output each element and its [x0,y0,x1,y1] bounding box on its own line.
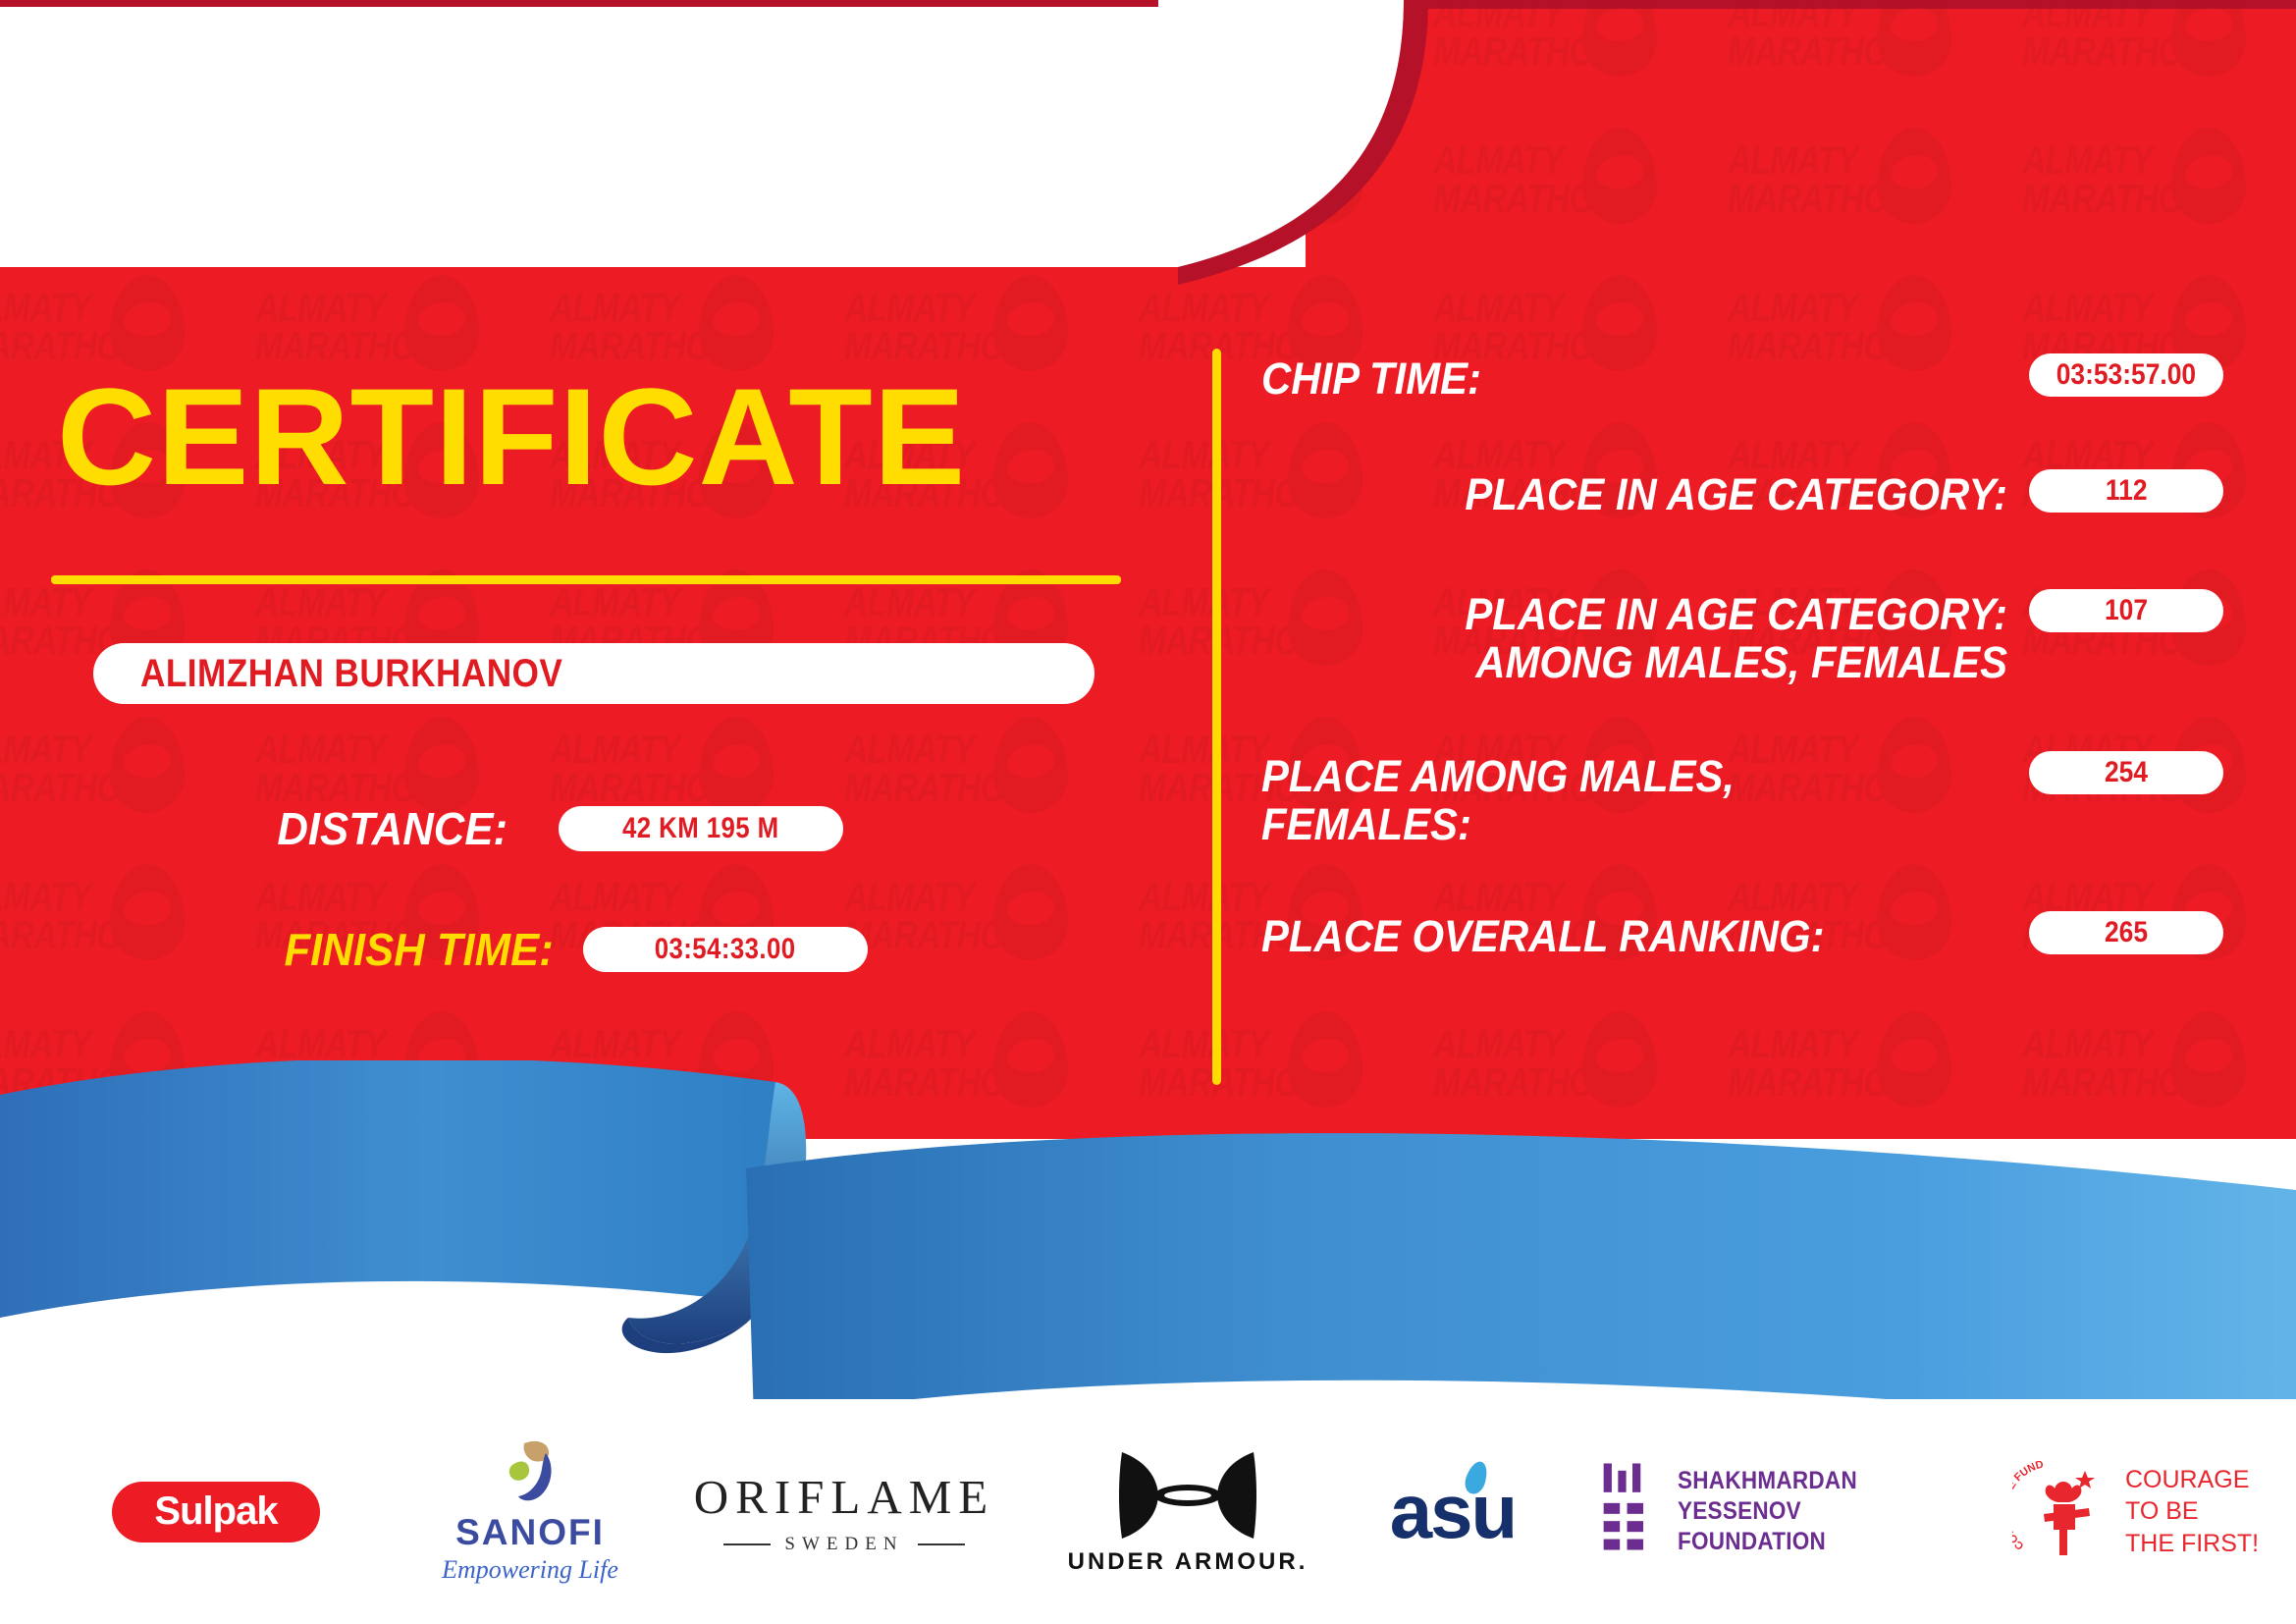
watermark-drop-icon [1582,0,1657,77]
stat-value: 112 [2106,474,2148,508]
watermark-drop-icon [1582,128,1657,224]
stat-row: PLACE AMONG MALES, FEMALES:254 [1261,751,2223,848]
oriflame-sweden: SWEDEN [784,1534,903,1555]
oriflame-rule-left [723,1543,771,1545]
oriflame-sub: SWEDEN [723,1534,964,1555]
watermark-tile: ALMATY MARATHON [2022,0,2296,118]
stat-label: PLACE OVERALL RANKING: [1261,911,1955,961]
stat-row: PLACE OVERALL RANKING:265 [1261,911,2223,961]
watermark-text: ALMATY MARATHON [2022,141,2206,218]
stat-value: 254 [2105,756,2148,789]
stat-row: PLACE IN AGE CATEGORY:112 [1261,469,2223,519]
courage-child-icon: CORPORATE FUND [2012,1453,2115,1571]
stat-row: PLACE IN AGE CATEGORY: AMONG MALES, FEMA… [1261,589,2223,686]
distance-value: 42 KM 195 M [622,812,779,845]
stat-value-pill: 254 [2029,751,2223,794]
sponsor-sanofi: SANOFI Empowering Life [393,1399,667,1624]
asu-label: asu [1390,1468,1516,1554]
stat-value-pill: 112 [2029,469,2223,513]
yessenov-mark-icon [1600,1457,1656,1567]
distance-value-pill: 42 KM 195 M [559,806,843,851]
stat-value: 265 [2105,916,2148,949]
sponsor-bar: Sulpak SANOFI Empowering Life ORIFLAME S… [0,1399,2296,1624]
stat-value-pill: 107 [2029,589,2223,632]
certificate-page: ALMATY MARATHONALMATY MARATHONALMATY MAR… [0,0,2296,1624]
athlete-name-value: ALIMZHAN BURKHANOV [140,652,562,696]
header-banner [0,7,1306,267]
sponsor-yessenov: SHAKHMARDAN YESSENOV FOUNDATION [1600,1399,1993,1624]
sanofi-tagline: Empowering Life [442,1555,618,1585]
finish-time-label: FINISH TIME: [284,923,553,976]
stat-value: 03:53:57.00 [2056,358,2196,392]
under-armour-icon [1114,1448,1261,1543]
asu-wordmark: asu [1390,1467,1516,1556]
sanofi-mark-icon [495,1439,565,1504]
watermark-drop-icon [2171,128,2246,224]
stat-value-pill: 265 [2029,911,2223,954]
courage-wordmark: COURAGE TO BE THE FIRST! [2125,1464,2259,1560]
distance-row: DISTANCE: 42 KM 195 M [265,802,843,855]
stat-label: CHIP TIME: [1261,353,1955,404]
watermark-tile: ALMATY MARATHON [2022,118,2296,265]
page-title: CERTIFICATE [57,368,966,506]
finish-time-value: 03:54:33.00 [655,933,796,966]
vertical-divider [1212,349,1221,1085]
header-curve-shape [1158,0,1571,285]
yessenov-wordmark: SHAKHMARDAN YESSENOV FOUNDATION [1678,1466,1961,1558]
athlete-name-field: ALIMZHAN BURKHANOV [93,643,1095,704]
watermark-drop-icon [1877,0,1951,77]
sponsor-oriflame: ORIFLAME SWEDEN [687,1399,1001,1624]
stat-row: CHIP TIME:03:53:57.00 [1261,353,2223,404]
sponsor-sulpak: Sulpak [59,1399,373,1624]
finish-time-row: FINISH TIME: 03:54:33.00 [270,923,868,976]
oriflame-rule-right [918,1543,965,1545]
sanofi-wordmark: SANOFI [455,1512,605,1553]
svg-text:CORPORATE FUND: CORPORATE FUND [2012,1458,2045,1551]
sponsor-courage: CORPORATE FUND COURAGE TO BE THE FIRST! [2012,1399,2287,1624]
watermark-tile: ALMATY MARATHON [1728,0,2022,118]
oriflame-wordmark: ORIFLAME [694,1469,994,1525]
watermark-tile: ALMATY MARATHON [1728,118,2022,265]
watermark-drop-icon [1877,128,1951,224]
watermark-text: ALMATY MARATHON [2022,0,2206,71]
sulpak-logo: Sulpak [112,1482,320,1543]
watermark-text: ALMATY MARATHON [1728,141,1911,218]
watermark-text: ALMATY MARATHON [1728,0,1911,71]
sponsor-under-armour: UNDER ARMOUR. [1041,1399,1335,1624]
stat-label: PLACE IN AGE CATEGORY: [1313,469,2007,519]
sponsor-asu: asu [1325,1399,1580,1624]
under-armour-wordmark: UNDER ARMOUR. [1068,1548,1308,1576]
finish-time-value-pill: 03:54:33.00 [583,927,868,972]
stat-value: 107 [2105,594,2148,627]
stat-label: PLACE IN AGE CATEGORY: AMONG MALES, FEMA… [1313,589,2007,686]
stat-label: PLACE AMONG MALES, FEMALES: [1261,751,1955,848]
stats-column: CHIP TIME:03:53:57.00PLACE IN AGE CATEGO… [1261,353,2223,1100]
distance-label: DISTANCE: [277,802,507,855]
watermark-drop-icon [2171,0,2246,77]
title-underline [51,575,1121,584]
stat-value-pill: 03:53:57.00 [2029,353,2223,397]
